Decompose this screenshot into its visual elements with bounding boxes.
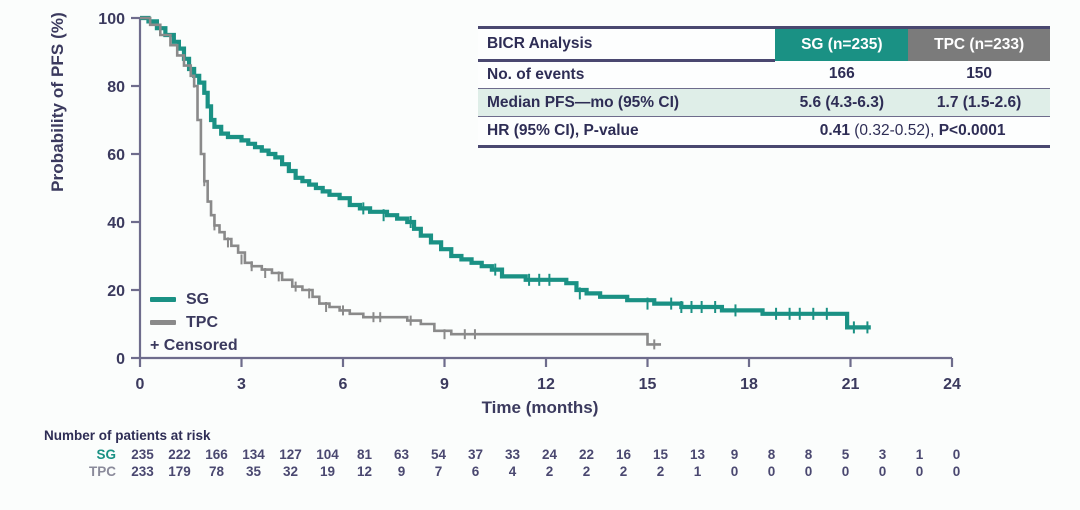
y-tick-label: 60: [107, 147, 125, 164]
risk-row-label-tpc: TPC: [44, 463, 124, 480]
risk-row-sg: SG 2352221661341271048163543733242216151…: [44, 446, 975, 463]
risk-value-sg: 0: [938, 446, 975, 463]
risk-value-sg: 24: [531, 446, 568, 463]
y-axis-label: Probability of PFS (%): [48, 0, 68, 232]
risk-row-label-sg: SG: [44, 446, 124, 463]
risk-value-tpc: 0: [827, 463, 864, 480]
risk-value-tpc: 78: [198, 463, 235, 480]
stats-row-tpc-value: 150: [908, 61, 1050, 89]
risk-value-sg: 22: [568, 446, 605, 463]
x-axis-label: Time (months): [400, 398, 680, 418]
risk-table-title: Number of patients at risk: [44, 428, 1044, 443]
risk-value-tpc: 0: [901, 463, 938, 480]
stats-table: BICR Analysis SG (n=235) TPC (n=233) No.…: [478, 26, 1050, 148]
x-tick-label: 0: [136, 376, 145, 393]
legend-label-sg: SG: [186, 291, 209, 309]
stats-header-row: BICR Analysis SG (n=235) TPC (n=233): [478, 29, 1050, 61]
risk-value-sg: 8: [790, 446, 827, 463]
x-tick-label: 15: [639, 376, 657, 393]
legend-label-censored: + Censored: [150, 337, 238, 355]
risk-value-tpc: 0: [864, 463, 901, 480]
risk-value-sg: 166: [198, 446, 235, 463]
stats-row-sg-value: 5.6 (4.3-6.3): [775, 89, 908, 117]
x-tick-label: 21: [842, 376, 860, 393]
risk-table: Number of patients at risk SG 2352221661…: [44, 428, 1044, 480]
risk-value-sg: 134: [235, 446, 272, 463]
stats-row-label: No. of events: [478, 61, 775, 89]
y-tick-label: 80: [107, 79, 125, 96]
risk-value-tpc: 2: [531, 463, 568, 480]
stats-row-sg-value: 166: [775, 61, 908, 89]
x-tick-label: 9: [440, 376, 449, 393]
table-row: Median PFS—mo (95% CI) 5.6 (4.3-6.3) 1.7…: [478, 89, 1050, 117]
risk-value-tpc: 0: [790, 463, 827, 480]
stats-hr-value: 0.41 (0.32-0.52), P<0.0001: [775, 117, 1050, 145]
stats-hr-row: HR (95% CI), P-value 0.41 (0.32-0.52), P…: [478, 117, 1050, 145]
risk-value-sg: 1: [901, 446, 938, 463]
stats-bottomline-row: [478, 145, 1050, 148]
risk-value-sg: 235: [124, 446, 161, 463]
risk-value-tpc: 19: [309, 463, 346, 480]
stats-bottomline: [478, 145, 1050, 148]
risk-value-sg: 127: [272, 446, 309, 463]
risk-value-tpc: 179: [161, 463, 198, 480]
risk-value-tpc: 35: [235, 463, 272, 480]
stats-hr-estimate: 0.41: [820, 122, 850, 139]
legend-item-sg: SG: [150, 288, 238, 311]
risk-value-tpc: 2: [568, 463, 605, 480]
y-tick-label: 40: [107, 215, 125, 232]
risk-value-tpc: 1: [679, 463, 716, 480]
stats-header-analysis: BICR Analysis: [478, 29, 775, 61]
risk-table-grid: SG 2352221661341271048163543733242216151…: [44, 446, 975, 480]
risk-value-sg: 9: [716, 446, 753, 463]
stats-hr-pvalue: P<0.0001: [939, 122, 1006, 139]
risk-value-tpc: 233: [124, 463, 161, 480]
x-tick-label: 24: [943, 376, 961, 393]
risk-value-tpc: 6: [457, 463, 494, 480]
legend-swatch-tpc: [150, 320, 176, 325]
stats-hr-label-text: HR (95% CI), P-value: [487, 122, 639, 139]
risk-value-tpc: 0: [716, 463, 753, 480]
risk-value-sg: 104: [309, 446, 346, 463]
legend-swatch-sg: [150, 297, 176, 302]
risk-value-sg: 222: [161, 446, 198, 463]
table-row: No. of events 166 150: [478, 61, 1050, 89]
risk-value-tpc: 2: [642, 463, 679, 480]
risk-value-sg: 33: [494, 446, 531, 463]
risk-value-tpc: 4: [494, 463, 531, 480]
risk-value-tpc: 0: [753, 463, 790, 480]
stats-hr-label: HR (95% CI), P-value: [478, 117, 775, 145]
risk-value-tpc: 7: [420, 463, 457, 480]
x-tick-label: 12: [537, 376, 555, 393]
y-tick-label: 0: [116, 351, 125, 368]
x-tick-label: 18: [740, 376, 758, 393]
risk-value-sg: 15: [642, 446, 679, 463]
x-tick-label: 6: [339, 376, 348, 393]
risk-value-sg: 8: [753, 446, 790, 463]
risk-value-tpc: 0: [938, 463, 975, 480]
risk-value-tpc: 32: [272, 463, 309, 480]
risk-value-sg: 5: [827, 446, 864, 463]
stats-header-tpc: TPC (n=233): [908, 29, 1050, 61]
risk-value-tpc: 2: [605, 463, 642, 480]
risk-value-sg: 3: [864, 446, 901, 463]
y-tick-label: 100: [98, 11, 125, 28]
legend-label-tpc: TPC: [186, 314, 218, 332]
legend-item-tpc: TPC: [150, 311, 238, 334]
risk-value-sg: 16: [605, 446, 642, 463]
y-tick-label: 20: [107, 283, 125, 300]
x-tick-label: 3: [237, 376, 246, 393]
stats-hr-ci: (0.32-0.52),: [850, 122, 939, 139]
risk-value-sg: 63: [383, 446, 420, 463]
stats-header-sg: SG (n=235): [775, 29, 908, 61]
risk-value-tpc: 12: [346, 463, 383, 480]
risk-value-sg: 13: [679, 446, 716, 463]
stats-row-tpc-value: 1.7 (1.5-2.6): [908, 89, 1050, 117]
risk-value-sg: 54: [420, 446, 457, 463]
chart-legend: SG TPC + Censored: [150, 288, 238, 357]
risk-value-tpc: 9: [383, 463, 420, 480]
risk-value-sg: 37: [457, 446, 494, 463]
risk-row-tpc: TPC 23317978353219129764222210000000: [44, 463, 975, 480]
risk-value-sg: 81: [346, 446, 383, 463]
legend-item-censored: + Censored: [150, 334, 238, 357]
stats-row-label: Median PFS—mo (95% CI): [478, 89, 775, 117]
